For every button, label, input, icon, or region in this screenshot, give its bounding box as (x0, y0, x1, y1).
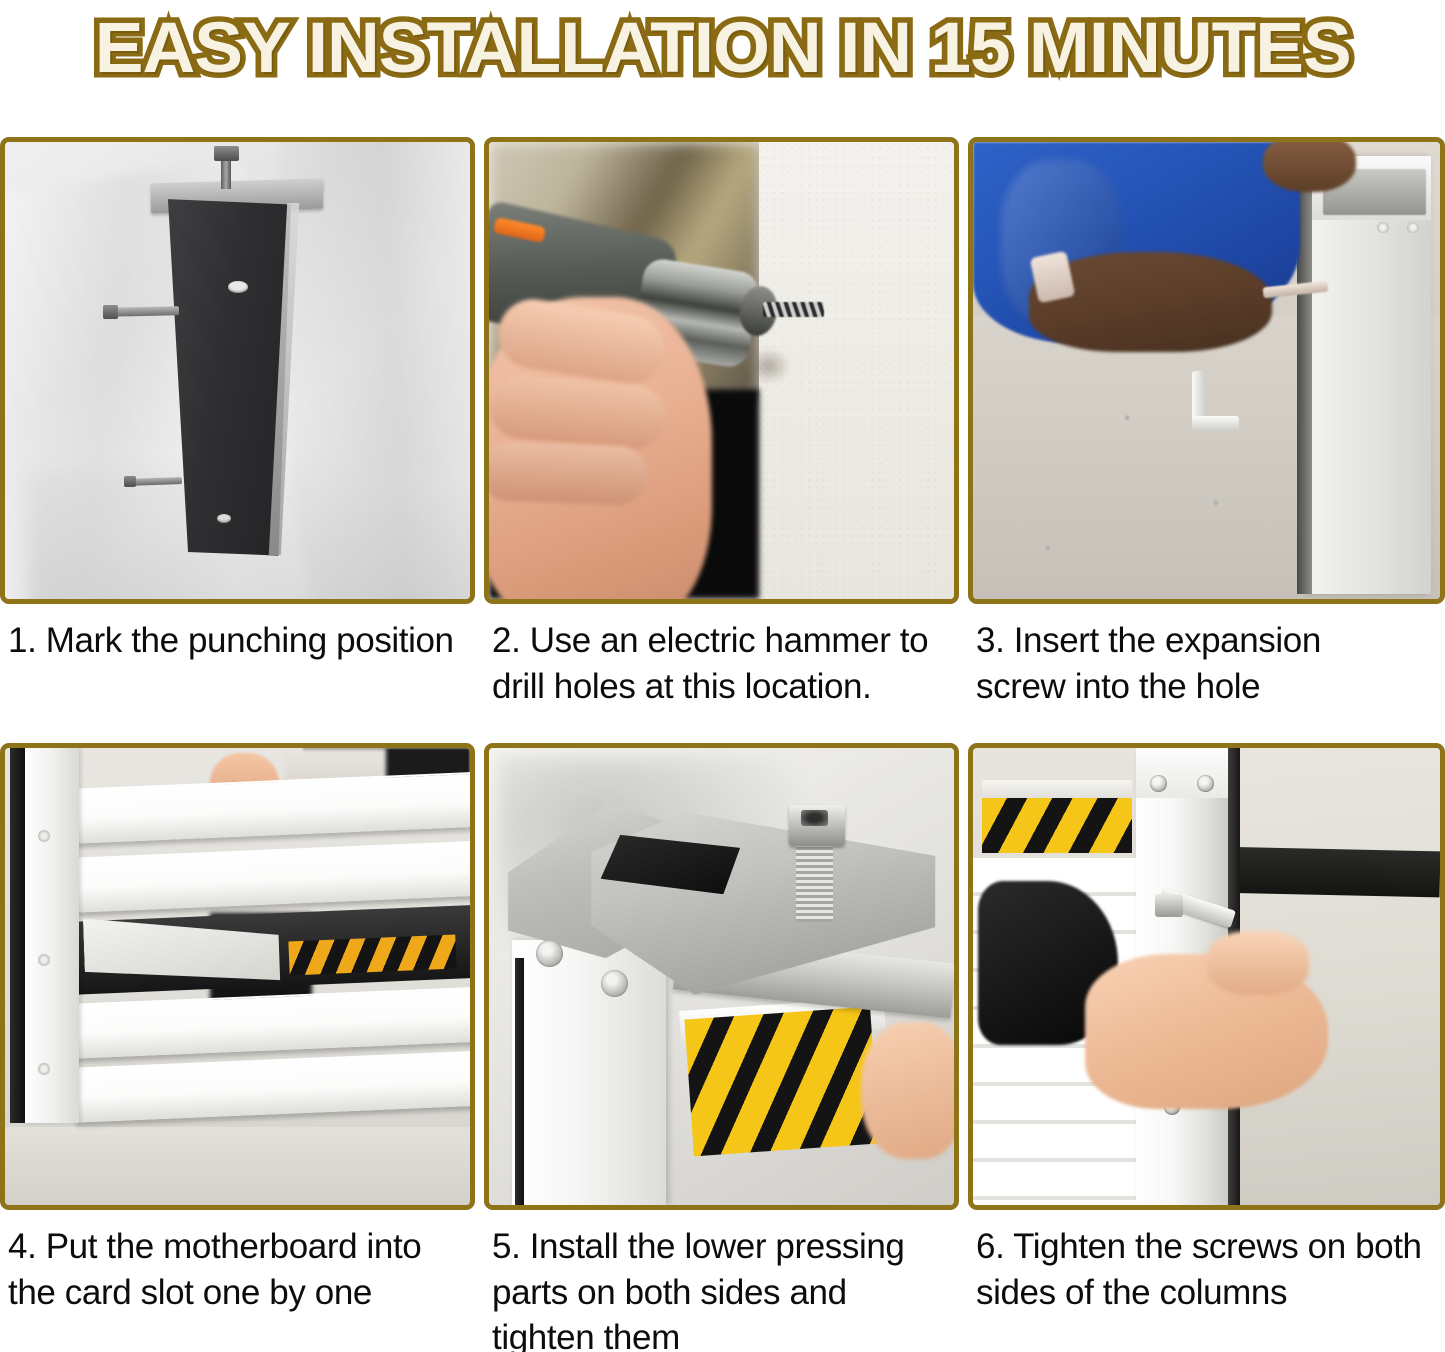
photo-insert-expansion-screw (973, 142, 1440, 599)
page-title: EASY INSTALLATION IN 15 MINUTES (94, 13, 1350, 84)
installation-guide-page: EASY INSTALLATION IN 15 MINUTES 1. Mark … (0, 0, 1445, 1352)
step-cell-6: 6. Tighten the screws on both sides of t… (968, 709, 1445, 1352)
step-caption-2: 2. Use an electric hammer to drill holes… (484, 618, 959, 709)
photo-lower-pressing-part (489, 748, 954, 1205)
step-photo-frame-2 (484, 137, 959, 604)
step-caption-5-line-3: tighten them (492, 1315, 949, 1352)
step-caption-3-line-2: screw into the hole (976, 664, 1435, 710)
photo-marking-template (5, 142, 470, 599)
step-cell-3: 3. Insert the expansion screw into the h… (968, 137, 1445, 709)
step-cell-2: 2. Use an electric hammer to drill holes… (484, 137, 968, 709)
photo-drilling-wall (489, 142, 954, 599)
step-caption-3: 3. Insert the expansion screw into the h… (968, 618, 1445, 709)
step-caption-5-line-1: 5. Install the lower pressing (492, 1224, 949, 1270)
step-caption-4-line-1: 4. Put the motherboard into (8, 1224, 465, 1270)
step-photo-frame-5 (484, 743, 959, 1210)
step-caption-6-line-2: sides of the columns (976, 1270, 1435, 1316)
step-cell-4: 4. Put the motherboard into the card slo… (0, 709, 484, 1352)
step-photo-frame-3 (968, 137, 1445, 604)
step-photo-frame-6 (968, 743, 1445, 1210)
step-cell-1: 1. Mark the punching position (0, 137, 484, 709)
step-caption-1-line-1: 1. Mark the punching position (8, 618, 465, 664)
step-caption-2-line-1: 2. Use an electric hammer to (492, 618, 949, 664)
title-banner: EASY INSTALLATION IN 15 MINUTES (0, 0, 1445, 96)
step-caption-4: 4. Put the motherboard into the card slo… (0, 1224, 475, 1315)
step-caption-1: 1. Mark the punching position (0, 618, 475, 664)
step-caption-6-line-1: 6. Tighten the screws on both (976, 1224, 1435, 1270)
step-photo-frame-4 (0, 743, 475, 1210)
step-caption-4-line-2: the card slot one by one (8, 1270, 465, 1316)
step-caption-3-line-1: 3. Insert the expansion (976, 618, 1435, 664)
step-caption-6: 6. Tighten the screws on both sides of t… (968, 1224, 1445, 1315)
step-caption-5: 5. Install the lower pressing parts on b… (484, 1224, 959, 1352)
step-cell-5: 5. Install the lower pressing parts on b… (484, 709, 968, 1352)
step-photo-frame-1 (0, 137, 475, 604)
step-caption-5-line-2: parts on both sides and (492, 1270, 949, 1316)
photo-tighten-column-screws (973, 748, 1440, 1205)
photo-boards-into-slot (5, 748, 470, 1205)
steps-grid: 1. Mark the punching position (0, 137, 1445, 1352)
step-caption-2-line-2: drill holes at this location. (492, 664, 949, 710)
